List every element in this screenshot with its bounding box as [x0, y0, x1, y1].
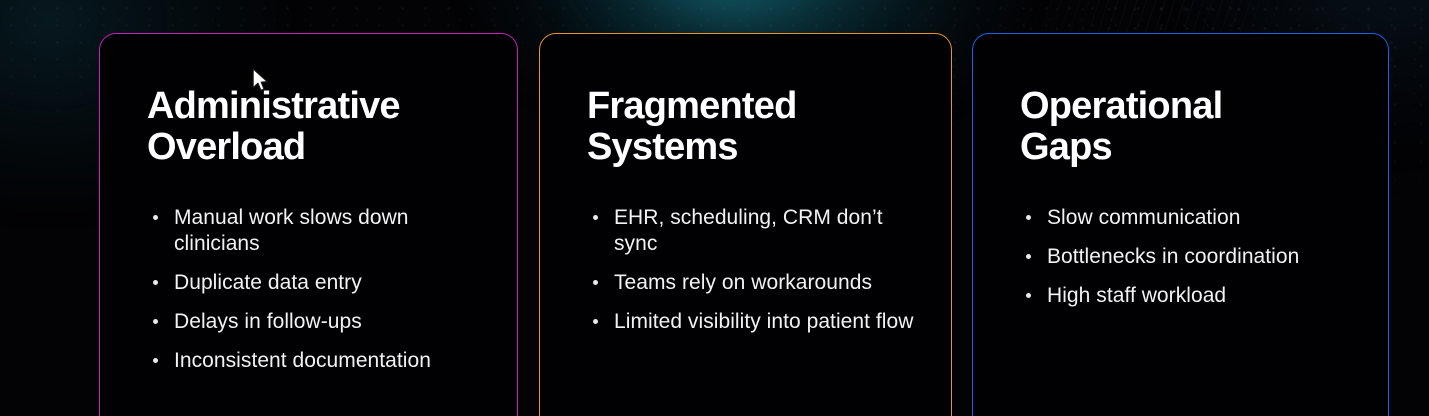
card-administrative-overload[interactable]: Administrative Overload Manual work slow… — [99, 33, 518, 416]
card-title: Operational Gaps — [1020, 86, 1388, 168]
list-item: Inconsistent documentation — [147, 348, 477, 374]
list-item-label: Limited visibility into patient flow — [614, 310, 913, 333]
list-item: Teams rely on workarounds — [587, 270, 917, 296]
bullet-dot-icon — [593, 280, 598, 285]
bullet-dot-icon — [153, 319, 158, 324]
bullet-dot-icon — [593, 319, 598, 324]
list-item: Duplicate data entry — [147, 270, 477, 296]
card-title: Administrative Overload — [147, 86, 517, 168]
bullet-dot-icon — [1026, 215, 1031, 220]
list-item-label: EHR, scheduling, CRM don’t sync — [614, 206, 883, 255]
slide-background: Administrative Overload Manual work slow… — [0, 0, 1429, 416]
card-bullet-list: Manual work slows down clinicians Duplic… — [147, 205, 477, 374]
list-item: Delays in follow-ups — [147, 309, 477, 335]
bullet-dot-icon — [593, 215, 598, 220]
list-item-label: Slow communication — [1047, 206, 1240, 229]
list-item: EHR, scheduling, CRM don’t sync — [587, 205, 917, 257]
list-item-label: Delays in follow-ups — [174, 310, 362, 333]
card-bullet-list: EHR, scheduling, CRM don’t sync Teams re… — [587, 205, 917, 335]
bullet-dot-icon — [153, 358, 158, 363]
bullet-dot-icon — [1026, 293, 1031, 298]
list-item: High staff workload — [1020, 283, 1350, 309]
bullet-dot-icon — [153, 280, 158, 285]
card-bullet-list: Slow communication Bottlenecks in coordi… — [1020, 205, 1350, 309]
list-item-label: Inconsistent documentation — [174, 349, 431, 372]
list-item: Manual work slows down clinicians — [147, 205, 477, 257]
list-item: Bottlenecks in coordination — [1020, 244, 1350, 270]
list-item: Limited visibility into patient flow — [587, 309, 917, 335]
list-item-label: Teams rely on workarounds — [614, 271, 872, 294]
list-item: Slow communication — [1020, 205, 1350, 231]
bullet-dot-icon — [1026, 254, 1031, 259]
list-item-label: Manual work slows down clinicians — [174, 206, 409, 255]
card-operational-gaps[interactable]: Operational Gaps Slow communication Bott… — [972, 33, 1389, 416]
card-title: Fragmented Systems — [587, 86, 951, 168]
list-item-label: Bottlenecks in coordination — [1047, 245, 1299, 268]
bullet-dot-icon — [153, 215, 158, 220]
card-fragmented-systems[interactable]: Fragmented Systems EHR, scheduling, CRM … — [539, 33, 952, 416]
list-item-label: High staff workload — [1047, 284, 1226, 307]
list-item-label: Duplicate data entry — [174, 271, 362, 294]
